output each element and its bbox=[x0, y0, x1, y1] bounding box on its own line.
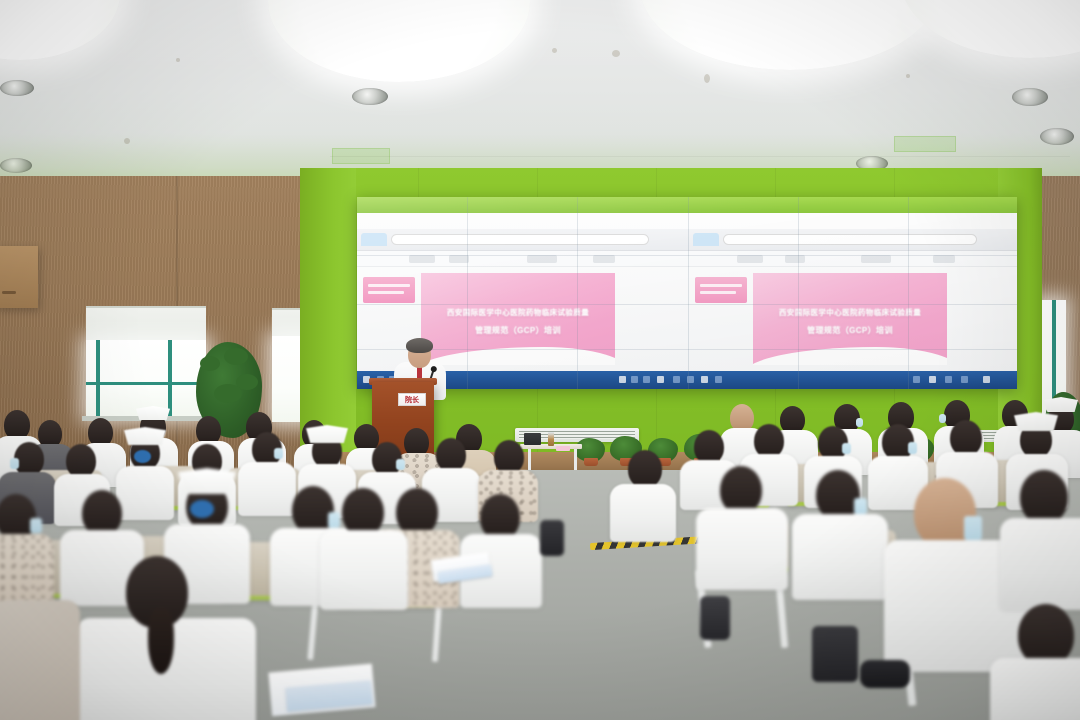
taskbar-icon[interactable] bbox=[945, 376, 952, 383]
nurse-cap bbox=[1044, 397, 1078, 412]
water-bottle bbox=[548, 432, 554, 446]
person-torso bbox=[116, 466, 174, 520]
person-torso bbox=[1000, 518, 1080, 610]
plant-leaf-d bbox=[236, 374, 258, 390]
person-torso bbox=[696, 508, 788, 590]
screen-pane-right: 西安国际医学中心医院药物临床试验质量 管理规范（GCP）培训 bbox=[689, 229, 1017, 387]
name-card-on-table bbox=[556, 446, 570, 451]
person-torso bbox=[792, 514, 888, 600]
face-mask bbox=[908, 442, 917, 454]
seated-legs bbox=[812, 626, 858, 682]
videowall-seam bbox=[357, 255, 1017, 256]
conference-hall-photo: 西安国际医学中心医院药物临床试验质量 管理规范（GCP）培训 bbox=[0, 0, 1080, 720]
laptop-on-table bbox=[524, 433, 541, 445]
window-mullion-left-1 bbox=[96, 340, 100, 418]
face-mask bbox=[842, 443, 851, 454]
nurse-cap bbox=[306, 425, 348, 443]
podium-name-sign: 院长 bbox=[398, 393, 426, 406]
taskbar-icon[interactable] bbox=[619, 376, 626, 383]
taskbar-icon[interactable] bbox=[657, 376, 664, 383]
ceiling-spotlight-2 bbox=[352, 88, 388, 105]
ceiling-speck-4 bbox=[704, 74, 710, 83]
toolbar-chip bbox=[737, 255, 763, 263]
person-head bbox=[694, 430, 724, 464]
nurse-cap bbox=[124, 427, 166, 445]
wall-cabinet bbox=[0, 246, 38, 308]
green-pillar-left bbox=[300, 168, 356, 458]
toolbar-chip bbox=[527, 255, 557, 263]
window-left bbox=[86, 340, 206, 418]
toolbar-chip bbox=[861, 255, 891, 263]
video-wall[interactable]: 西安国际医学中心医院药物临床试验质量 管理规范（GCP）培训 bbox=[357, 197, 1017, 389]
seated-legs bbox=[700, 596, 730, 640]
ceiling-round-light-2 bbox=[268, 0, 530, 82]
window-mullion-left-2 bbox=[168, 340, 172, 418]
person-head bbox=[754, 424, 784, 458]
slide-title-line2: 管理规范（GCP）培训 bbox=[429, 325, 608, 336]
browser-urlbar-right[interactable] bbox=[723, 234, 977, 245]
app-toolbar-right bbox=[689, 251, 1017, 267]
browser-tab-left[interactable] bbox=[361, 233, 387, 246]
face-mask bbox=[30, 518, 42, 533]
speaker-hair bbox=[406, 338, 433, 353]
person-torso bbox=[990, 658, 1080, 720]
ceiling-spotlight-3 bbox=[1012, 88, 1048, 106]
taskbar-icon[interactable] bbox=[715, 376, 722, 383]
app-toolbar-left bbox=[357, 251, 689, 267]
ceiling-speck-6 bbox=[906, 74, 910, 78]
person-head bbox=[342, 488, 384, 536]
hair-accessory bbox=[134, 450, 151, 463]
person-head bbox=[494, 440, 524, 474]
taskbar-icon[interactable] bbox=[929, 376, 936, 383]
person-head bbox=[628, 450, 662, 488]
person-head bbox=[816, 470, 860, 520]
face-mask bbox=[328, 512, 340, 528]
browser-toolbar-left bbox=[357, 229, 689, 251]
videowall-seam bbox=[688, 197, 689, 389]
person-head bbox=[66, 444, 96, 478]
window-rail-left bbox=[86, 382, 206, 385]
videowall-seam bbox=[467, 197, 468, 389]
presentation-slide-right: 西安国际医学中心医院药物临床试验质量 管理规范（GCP）培训 bbox=[753, 273, 947, 365]
toolbar-chip bbox=[785, 255, 805, 263]
person-torso bbox=[238, 462, 296, 516]
videowall-seam bbox=[577, 197, 578, 389]
person-head bbox=[1020, 470, 1068, 524]
person-torso bbox=[320, 530, 408, 610]
plant-leaf-b bbox=[224, 348, 248, 365]
videowall-seam bbox=[357, 349, 1017, 350]
nurse-cap bbox=[1014, 412, 1058, 431]
face-mask bbox=[939, 414, 946, 423]
windows-taskbar[interactable] bbox=[357, 371, 1017, 389]
sidebar-card-left bbox=[363, 277, 415, 303]
browser-tab-right[interactable] bbox=[693, 233, 719, 246]
face-mask bbox=[964, 516, 982, 540]
sidebar-card-right bbox=[695, 277, 747, 303]
browser-urlbar-left[interactable] bbox=[391, 234, 649, 245]
hair-accessory bbox=[190, 500, 214, 518]
videowall-seam bbox=[908, 197, 909, 389]
person-head bbox=[720, 466, 762, 514]
ponytail bbox=[148, 608, 174, 674]
podium-sign-text: 院长 bbox=[405, 395, 419, 405]
ceiling bbox=[0, 0, 1080, 196]
slide-title-line1: 西安国际医学中心医院药物临床试验质量 bbox=[761, 307, 940, 318]
toolbar-chip bbox=[933, 255, 955, 263]
taskbar-icon[interactable] bbox=[983, 376, 990, 383]
presentation-slide-left: 西安国际医学中心医院药物临床试验质量 管理规范（GCP）培训 bbox=[421, 273, 615, 365]
person-head bbox=[950, 420, 982, 456]
ceiling-round-light-3 bbox=[640, 0, 940, 70]
person-head bbox=[436, 438, 466, 472]
ceiling-speck-1 bbox=[176, 58, 180, 62]
taskbar-icon[interactable] bbox=[673, 376, 680, 383]
ceiling-speck-3 bbox=[612, 50, 620, 57]
slide-title-line2: 管理规范（GCP）培训 bbox=[761, 325, 940, 336]
nurse-cap bbox=[178, 468, 236, 494]
seated-legs bbox=[860, 660, 910, 688]
face-mask bbox=[10, 458, 19, 469]
face-mask bbox=[274, 448, 283, 459]
nurse-cap bbox=[136, 406, 170, 420]
video-wall-top-strip bbox=[357, 197, 1017, 213]
video-wall-content: 西安国际医学中心医院药物临床试验质量 管理规范（GCP）培训 bbox=[357, 213, 1017, 371]
person-head bbox=[1018, 604, 1074, 666]
slide-title-line1: 西安国际医学中心医院药物临床试验质量 bbox=[429, 307, 608, 318]
plant-leaf-a bbox=[200, 356, 220, 371]
ceiling-round-light-4 bbox=[900, 0, 1080, 58]
foreground-person-edge bbox=[0, 600, 80, 720]
face-mask bbox=[396, 459, 405, 470]
taskbar-icon[interactable] bbox=[643, 376, 650, 383]
toolbar-chip bbox=[409, 255, 435, 263]
toolbar-chip bbox=[593, 255, 615, 263]
face-mask bbox=[854, 498, 867, 514]
taskbar-icon[interactable] bbox=[701, 376, 708, 383]
ceiling-speck-2 bbox=[552, 48, 557, 53]
ceiling-round-light-1 bbox=[0, 0, 120, 60]
taskbar-icon[interactable] bbox=[913, 376, 920, 383]
seated-legs bbox=[540, 520, 564, 556]
videowall-seam bbox=[357, 304, 1017, 305]
toolbar-chip bbox=[449, 255, 469, 263]
stage-plant-pot-1 bbox=[584, 458, 598, 466]
taskbar-icon[interactable] bbox=[961, 376, 968, 383]
person-head bbox=[396, 488, 438, 536]
face-mask bbox=[856, 418, 863, 427]
ceiling-spotlight-1 bbox=[0, 80, 34, 96]
taskbar-icon[interactable] bbox=[631, 376, 638, 383]
browser-toolbar-right bbox=[689, 229, 1017, 251]
videowall-seam bbox=[798, 197, 799, 389]
person-torso bbox=[610, 484, 676, 542]
person-torso bbox=[0, 534, 54, 610]
